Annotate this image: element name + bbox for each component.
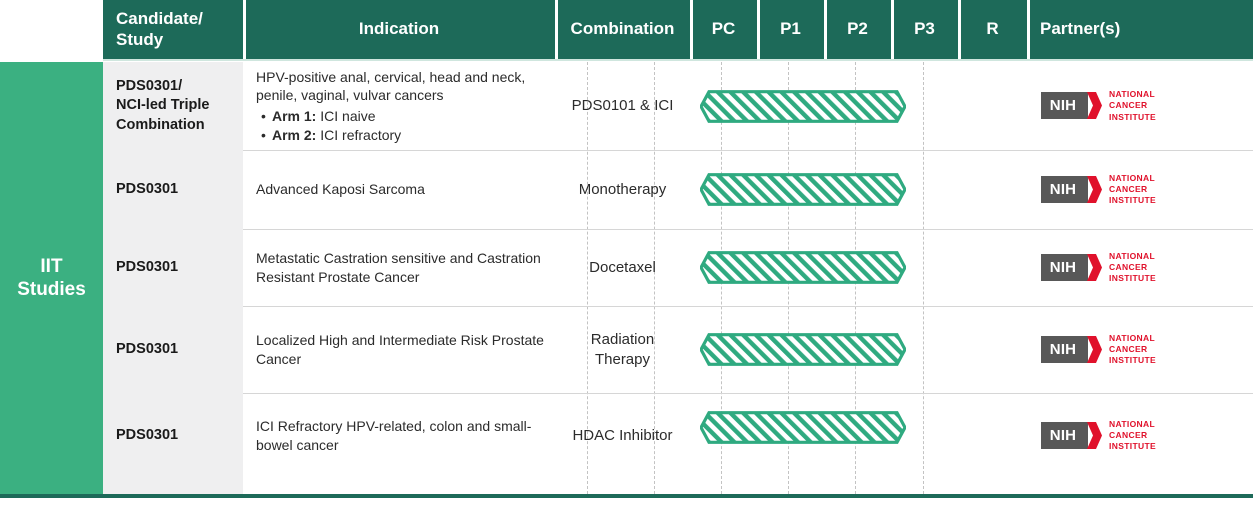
nci-wordmark-line: INSTITUTE — [1109, 355, 1156, 366]
column-header-candidate-line2: Study — [116, 30, 203, 50]
table-header-row: Candidate/ Study Indication Combination … — [0, 0, 1253, 59]
header-divider — [824, 0, 827, 59]
nci-wordmark: NATIONAL CANCER INSTITUTE — [1109, 173, 1156, 207]
indication-text: Metastatic Castration sensitive and Cast… — [256, 249, 547, 287]
chevron-right-icon — [1087, 422, 1102, 449]
category-rail-line1: IIT — [17, 255, 86, 278]
phase-bar-shape — [700, 251, 906, 284]
column-header-partners: Partner(s) — [1027, 0, 1253, 59]
nci-wordmark: NATIONAL CANCER INSTITUTE — [1109, 251, 1156, 285]
header-divider — [891, 0, 894, 59]
column-header-combination: Combination — [555, 0, 690, 59]
nci-wordmark-line: INSTITUTE — [1109, 441, 1156, 452]
pipeline-table: Candidate/ Study Indication Combination … — [0, 0, 1253, 505]
table-row[interactable]: PDS0301 Metastatic Castration sensitive … — [103, 229, 1253, 306]
nci-wordmark-line: CANCER — [1109, 262, 1156, 273]
nci-logo: NIH NATIONAL CANCER INSTITUTE — [1041, 333, 1156, 367]
cell-indication: HPV-positive anal, cervical, head and ne… — [243, 62, 555, 150]
indication-text: Localized High and Intermediate Risk Pro… — [256, 331, 547, 369]
indication-text: HPV-positive anal, cervical, head and ne… — [256, 68, 547, 106]
candidate-line: Combination — [116, 116, 209, 135]
cell-indication: Localized High and Intermediate Risk Pro… — [243, 306, 555, 393]
nci-wordmark-line: INSTITUTE — [1109, 195, 1156, 206]
indication-bullet-label: Arm 2: — [272, 127, 316, 143]
chevron-right-icon — [1087, 92, 1102, 119]
cell-indication: Advanced Kaposi Sarcoma — [243, 150, 555, 229]
cell-partner: NIH NATIONAL CANCER INSTITUTE — [1027, 62, 1253, 150]
nih-badge: NIH — [1041, 254, 1088, 281]
cell-combination: HDAC Inhibitor — [555, 393, 690, 494]
phase-progress-bar[interactable] — [700, 90, 906, 123]
category-rail-iit-studies: IIT Studies — [0, 62, 103, 494]
cell-candidate: PDS0301 — [103, 393, 243, 494]
cell-combination: Docetaxel — [555, 229, 690, 306]
indication-bullet: Arm 1: ICI naive — [272, 107, 547, 126]
nci-logo: NIH NATIONAL CANCER INSTITUTE — [1041, 419, 1156, 453]
column-header-candidate: Candidate/ Study — [103, 0, 243, 59]
phase-bar-shape — [700, 411, 906, 444]
column-header-candidate-line1: Candidate/ — [116, 9, 203, 29]
nci-wordmark-line: CANCER — [1109, 430, 1156, 441]
header-divider — [555, 0, 558, 59]
nih-label: NIH — [1050, 427, 1076, 444]
table-row[interactable]: PDS0301 Localized High and Intermediate … — [103, 306, 1253, 393]
cell-partner: NIH NATIONAL CANCER INSTITUTE — [1027, 150, 1253, 229]
candidate-line: PDS0301 — [116, 340, 178, 359]
cell-combination: Monotherapy — [555, 150, 690, 229]
table-row[interactable]: PDS0301/ NCI-led Triple Combination HPV-… — [103, 62, 1253, 150]
phase-bar-shape — [700, 173, 906, 206]
nih-label: NIH — [1050, 97, 1076, 114]
cell-candidate: PDS0301 — [103, 150, 243, 229]
cell-indication: Metastatic Castration sensitive and Cast… — [243, 229, 555, 306]
phase-progress-bar[interactable] — [700, 411, 906, 444]
nci-wordmark-line: CANCER — [1109, 100, 1156, 111]
nci-wordmark: NATIONAL CANCER INSTITUTE — [1109, 333, 1156, 367]
nci-wordmark-line: CANCER — [1109, 344, 1156, 355]
cell-candidate: PDS0301 — [103, 229, 243, 306]
column-header-p3: P3 — [891, 0, 958, 59]
phase-bar-shape — [700, 90, 906, 123]
nci-logo: NIH NATIONAL CANCER INSTITUTE — [1041, 173, 1156, 207]
cell-combination: PDS0101 & ICI — [555, 62, 690, 150]
nih-badge: NIH — [1041, 176, 1088, 203]
header-underline — [103, 59, 1253, 61]
nci-wordmark-line: INSTITUTE — [1109, 112, 1156, 123]
column-header-pc: PC — [690, 0, 757, 59]
nci-wordmark-line: NATIONAL — [1109, 419, 1156, 430]
indication-bullet-text: ICI refractory — [320, 127, 401, 143]
nci-logo: NIH NATIONAL CANCER INSTITUTE — [1041, 89, 1156, 123]
header-divider — [243, 0, 246, 59]
nci-wordmark-line: NATIONAL — [1109, 89, 1156, 100]
indication-text: Advanced Kaposi Sarcoma — [256, 180, 425, 199]
bottom-rule — [0, 494, 1253, 498]
nci-wordmark: NATIONAL CANCER INSTITUTE — [1109, 89, 1156, 123]
chevron-right-icon — [1087, 176, 1102, 203]
category-rail-line2: Studies — [17, 278, 86, 301]
candidate-line: PDS0301 — [116, 258, 178, 277]
cell-indication: ICI Refractory HPV-related, colon and sm… — [243, 393, 555, 494]
nci-wordmark-line: NATIONAL — [1109, 173, 1156, 184]
column-header-p2: P2 — [824, 0, 891, 59]
indication-text: ICI Refractory HPV-related, colon and sm… — [256, 417, 547, 455]
combination-line: Radiation — [591, 330, 654, 350]
candidate-line: PDS0301 — [116, 426, 178, 445]
header-divider — [958, 0, 961, 59]
indication-bullet-text: ICI naive — [320, 108, 375, 124]
table-row[interactable]: PDS0301 ICI Refractory HPV-related, colo… — [103, 393, 1253, 494]
cell-candidate: PDS0301/ NCI-led Triple Combination — [103, 62, 243, 150]
combination-line: Therapy — [591, 350, 654, 370]
nci-wordmark-line: NATIONAL — [1109, 333, 1156, 344]
nci-wordmark-line: NATIONAL — [1109, 251, 1156, 262]
indication-bullet-label: Arm 1: — [272, 108, 316, 124]
indication-bullet: Arm 2: ICI refractory — [272, 126, 547, 145]
table-row[interactable]: PDS0301 Advanced Kaposi Sarcoma Monother… — [103, 150, 1253, 229]
chevron-right-icon — [1087, 336, 1102, 363]
nih-badge: NIH — [1041, 92, 1088, 119]
nci-wordmark: NATIONAL CANCER INSTITUTE — [1109, 419, 1156, 453]
cell-partner: NIH NATIONAL CANCER INSTITUTE — [1027, 229, 1253, 306]
indication-bullet-list: Arm 1: ICI naive Arm 2: ICI refractory — [256, 107, 547, 145]
header-divider — [690, 0, 693, 59]
nih-label: NIH — [1050, 259, 1076, 276]
cell-partner: NIH NATIONAL CANCER INSTITUTE — [1027, 306, 1253, 393]
header-divider — [1027, 0, 1030, 59]
nci-wordmark-line: INSTITUTE — [1109, 273, 1156, 284]
nih-label: NIH — [1050, 341, 1076, 358]
candidate-line: PDS0301 — [116, 180, 178, 199]
chevron-right-icon — [1087, 254, 1102, 281]
cell-partner: NIH NATIONAL CANCER INSTITUTE — [1027, 393, 1253, 494]
header-divider — [757, 0, 760, 59]
nih-badge: NIH — [1041, 422, 1088, 449]
nci-logo: NIH NATIONAL CANCER INSTITUTE — [1041, 251, 1156, 285]
nih-label: NIH — [1050, 181, 1076, 198]
candidate-line: PDS0301/ — [116, 77, 209, 96]
nci-wordmark-line: CANCER — [1109, 184, 1156, 195]
column-header-p1: P1 — [757, 0, 824, 59]
phase-progress-bar[interactable] — [700, 251, 906, 284]
phase-progress-bar[interactable] — [700, 333, 906, 366]
column-header-r: R — [958, 0, 1027, 59]
candidate-line: NCI-led Triple — [116, 96, 209, 115]
column-header-indication: Indication — [243, 0, 555, 59]
phase-progress-bar[interactable] — [700, 173, 906, 206]
phase-bar-shape — [700, 333, 906, 366]
cell-candidate: PDS0301 — [103, 306, 243, 393]
combination-text: HDAC Inhibitor — [572, 426, 672, 446]
nih-badge: NIH — [1041, 336, 1088, 363]
cell-combination: Radiation Therapy — [555, 306, 690, 393]
